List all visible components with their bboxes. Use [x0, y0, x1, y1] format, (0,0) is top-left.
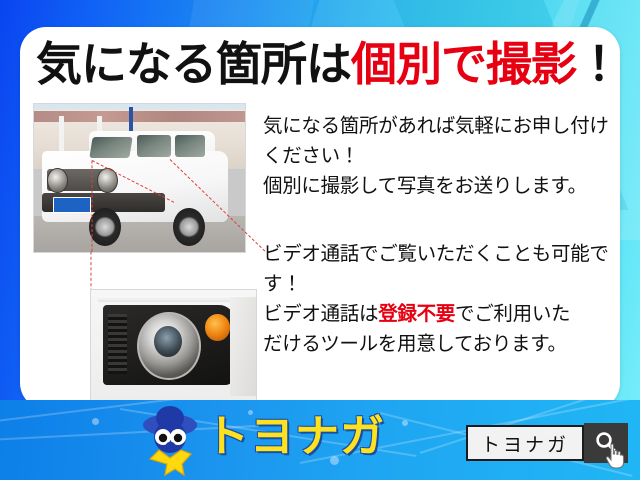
decorative-ray [0, 400, 238, 424]
car-front-wheel [89, 208, 121, 246]
search-input[interactable]: トヨナガ [466, 425, 584, 461]
copy-line: 個別に撮影して写真をお送りします。 [263, 171, 620, 201]
description-paragraph-2: ビデオ通話でご覧いただくことも可能で す！ ビデオ通話は登録不要でご利用いた だ… [263, 239, 620, 359]
headlight-closeup-photo [90, 289, 257, 401]
headline-suffix: ！ [576, 38, 620, 90]
toyonaga-mascot-icon [141, 404, 199, 476]
copy-line: ビデオ通話でご覧いただくことも可能で [263, 239, 620, 269]
copy-line-with-highlight: ビデオ通話は登録不要でご利用いた [263, 299, 620, 329]
copy-text: でご利用いた [455, 303, 570, 325]
closeup-hood-edge [98, 296, 250, 303]
search-button[interactable] [584, 423, 628, 463]
page-title: 気になる箇所は個別で撮影！ [36, 31, 620, 97]
callout-dashed-line [91, 252, 92, 292]
content-card: 気になる箇所は個別で撮影！ [20, 27, 620, 409]
car-windshield [89, 137, 132, 158]
copy-line: だけるツールを用意しております。 [263, 329, 620, 359]
copy-line: 気になる箇所があれば気軽にお申し付け [263, 111, 620, 141]
closeup-grille-vent [108, 314, 128, 373]
footer-brand-band: トヨナガ トヨナガ [0, 400, 640, 480]
copy-highlight: 登録不要 [378, 303, 455, 325]
brand-wordmark: トヨナガ [205, 400, 385, 464]
car-rear-wheel [173, 208, 205, 246]
vehicle-photo [33, 103, 246, 253]
car-rear-window [175, 135, 205, 157]
headline-highlight: 個別で撮影 [351, 38, 576, 90]
closeup-turn-signal [205, 314, 230, 340]
description-paragraph-1: 気になる箇所があれば気軽にお申し付け ください！ 個別に撮影して写真をお送りしま… [263, 111, 620, 201]
headline-plain: 気になる箇所は [36, 38, 351, 90]
car-front-window [137, 135, 171, 157]
car-headlight-left [47, 168, 68, 194]
closeup-projector-lens [154, 326, 182, 357]
pointer-hand-icon [604, 443, 626, 469]
copy-line: ください！ [263, 141, 620, 171]
search-widget[interactable]: トヨナガ [466, 423, 628, 463]
decorative-dot [402, 420, 408, 426]
decorative-dot [92, 418, 99, 425]
photo-canopy [34, 111, 245, 121]
car-license-plate [53, 197, 91, 212]
poster-canvas: 気になる箇所は個別で撮影！ [0, 0, 640, 480]
copy-text: ビデオ通話は [263, 303, 378, 325]
closeup-fender [230, 297, 256, 396]
copy-line: す！ [263, 269, 620, 299]
